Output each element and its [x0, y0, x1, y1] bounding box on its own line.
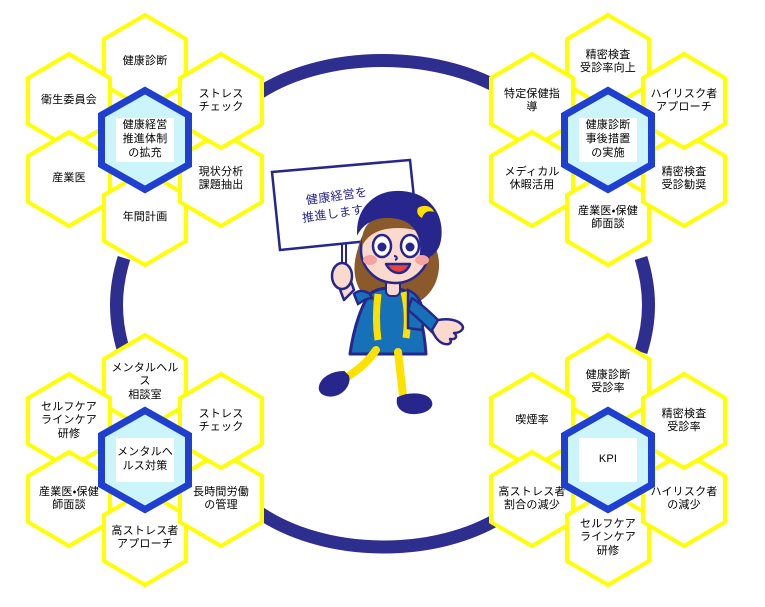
- blush-left-icon: [363, 255, 377, 265]
- shoe-front-icon: [398, 394, 432, 413]
- hex-center-health-management-system[interactable]: 健康経営 推進体制 の拡充: [97, 86, 193, 194]
- mascot-character: [258, 158, 488, 418]
- shoe-back-icon: [320, 372, 349, 396]
- backpack-strap-left-icon: [377, 294, 379, 340]
- hex-label: KPI: [575, 453, 641, 467]
- hex-center-post-checkup-measures[interactable]: 健康診断 事後措置 の実施: [560, 86, 656, 194]
- hex-label: 健康経営 推進体制 の拡充: [112, 119, 178, 160]
- hex-label: 長時間労働 の管理: [183, 486, 259, 513]
- hex-label: 高ストレス者 割合の減少: [494, 486, 570, 513]
- hex-label: ハイリスク者 の減少: [646, 486, 722, 513]
- hex-label: メンタルヘ ルス対策: [112, 446, 178, 474]
- hex-label: 健康診断 事後措置 の実施: [575, 119, 641, 160]
- hand-left-icon: [332, 263, 352, 289]
- arc-top-icon: [252, 61, 515, 99]
- honeycomb-diagram-canvas: 健康診断衛生委員会産業医年間計画現状分析 課題抽出ストレス チェック健康経営 推…: [0, 0, 765, 607]
- blush-right-icon: [415, 255, 429, 265]
- hex-label: セルフケア ラインケア 研修: [31, 401, 107, 441]
- hex-label: ストレス チェック: [183, 408, 259, 435]
- hand-right-icon: [432, 319, 463, 344]
- hex-label: 精密検査 受診率向上: [570, 49, 646, 76]
- hex-label: 現状分析 課題抽出: [183, 166, 259, 193]
- pupil-left-icon: [378, 243, 387, 252]
- hex-center-kpi[interactable]: KPI: [560, 406, 656, 514]
- hex-label: メンタルヘルス 相談室: [107, 362, 183, 402]
- pupil-right-icon: [406, 243, 415, 252]
- hex-label: メディカル 休暇活用: [494, 166, 570, 193]
- hex-label: 高ストレス者 アプローチ: [107, 525, 183, 552]
- hex-label: 産業医・保健 師面談: [31, 486, 107, 513]
- hex-label: 健康診断: [107, 55, 183, 68]
- arc-bottom-icon: [253, 508, 514, 547]
- hex-center-mental-health-measures[interactable]: メンタルヘ ルス対策: [97, 406, 193, 514]
- hex-label: ストレス チェック: [183, 88, 259, 115]
- hex-label: 精密検査 受診勧奨: [646, 166, 722, 193]
- hex-label: 特定保健指 導: [494, 88, 570, 115]
- hex-label: 年間計画: [107, 211, 183, 224]
- hex-label: 喫煙率: [494, 414, 570, 427]
- hex-label: 健康診断 受診率: [570, 369, 646, 396]
- hex-label: ハイリスク者 アプローチ: [646, 88, 722, 115]
- hex-label: 産業医・保健 師面談: [570, 205, 646, 232]
- hex-label: 産業医: [31, 172, 107, 185]
- hex-label: 精密検査 受診率: [646, 408, 722, 435]
- hex-label: 衛生委員会: [31, 94, 107, 107]
- hex-label: セルフケア ラインケア 研修: [570, 518, 646, 558]
